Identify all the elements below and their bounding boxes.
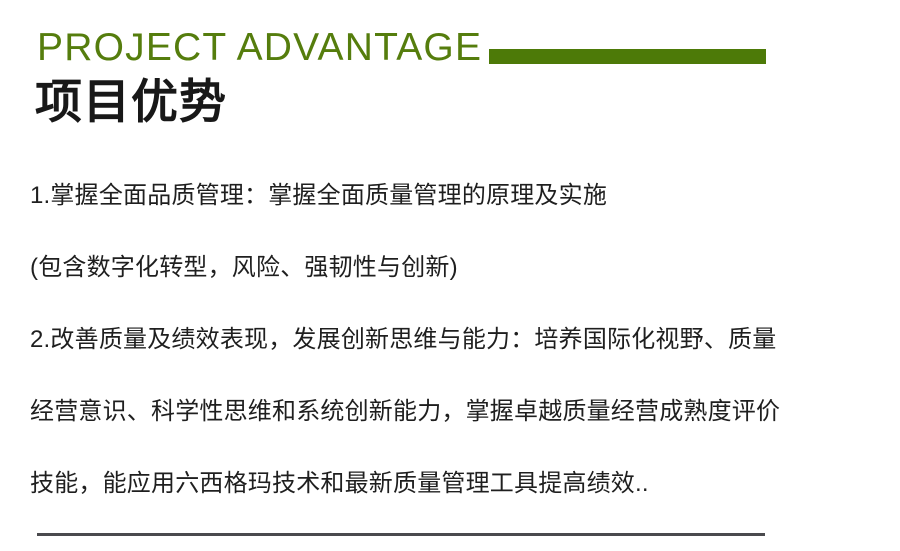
body-line-5: 技能，能应用六西格玛技术和最新质量管理工具提高绩效..: [30, 448, 886, 520]
body-line-1: 1.掌握全面品质管理：掌握全面质量管理的原理及实施: [30, 160, 886, 232]
body-line-4: 经营意识、科学性思维和系统创新能力，掌握卓越质量经营成熟度评价: [30, 376, 886, 448]
body-line-2: (包含数字化转型，风险、强韧性与创新): [30, 232, 886, 304]
footer-divider: [37, 533, 765, 536]
body-line-3: 2.改善质量及绩效表现，发展创新思维与能力：培养国际化视野、质量: [30, 304, 886, 376]
heading-accent-bar: [489, 49, 766, 64]
page-title-english: PROJECT ADVANTAGE: [37, 26, 482, 70]
body-text-block: 1.掌握全面品质管理：掌握全面质量管理的原理及实施 (包含数字化转型，风险、强韧…: [30, 160, 886, 520]
slide-canvas: PROJECT ADVANTAGE 项目优势 1.掌握全面品质管理：掌握全面质量…: [0, 0, 900, 551]
page-title-chinese: 项目优势: [35, 74, 227, 130]
